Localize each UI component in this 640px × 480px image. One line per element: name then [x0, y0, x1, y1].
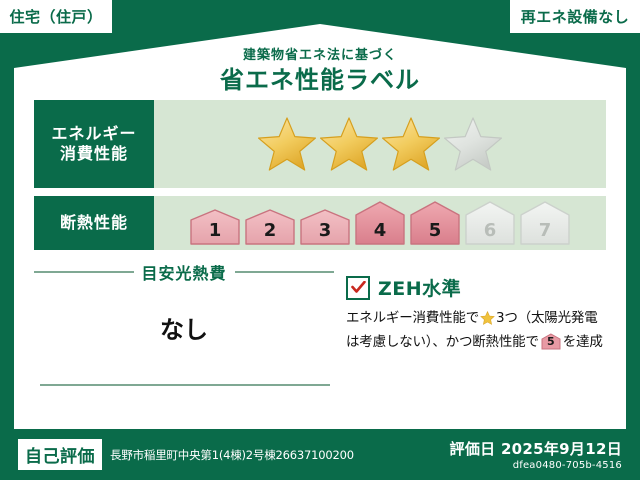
insulation-level-5: 5	[409, 201, 461, 245]
insulation-scale-area: 1234567	[154, 196, 606, 250]
building-type-tag: 住宅（住戸）	[0, 0, 112, 33]
energy-label-line1: エネルギー	[51, 124, 136, 144]
renewable-energy-tag-label: 再エネ設備なし	[521, 6, 630, 27]
insulation-label: 断熱性能	[60, 213, 128, 233]
lower-section: 目安光熱費 なし ZEH水準 エネルギー消費性能で3つ（太陽光発電は考慮しな	[34, 258, 606, 420]
renewable-energy-tag: 再エネ設備なし	[510, 0, 640, 33]
star-icon-filled	[382, 116, 440, 172]
insulation-level-2: 2	[244, 209, 296, 245]
zeh-desc-part4: を達成	[563, 334, 603, 350]
zeh-desc-part2: 3つ（太陽光発電	[496, 310, 598, 326]
star-icon-filled	[258, 116, 316, 172]
insulation-performance-row: 断熱性能 1234567	[34, 196, 606, 250]
insulation-level-number: 3	[299, 220, 351, 241]
star-icon-inline	[480, 311, 495, 332]
insulation-level-6: 6	[464, 201, 516, 245]
zeh-desc-part1: エネルギー消費性能で	[346, 310, 479, 326]
insulation-level-number: 6	[464, 220, 516, 241]
utility-cost-heading-label: 目安光熱費	[142, 260, 227, 284]
zeh-heading: ZEH水準	[346, 274, 608, 301]
self-evaluation-badge: 自己評価	[18, 439, 102, 470]
star-icon-filled	[320, 116, 378, 172]
insulation-level-number: 4	[354, 220, 406, 241]
utility-cost-heading: 目安光熱費	[34, 260, 334, 284]
energy-stars-area	[154, 100, 606, 188]
zeh-checkbox[interactable]	[346, 276, 370, 300]
energy-performance-row: エネルギー 消費性能	[34, 100, 606, 188]
check-icon	[351, 281, 366, 294]
insulation-level-number: 2	[244, 220, 296, 241]
zeh-block: ZEH水準 エネルギー消費性能で3つ（太陽光発電は考慮しない）、かつ断熱性能で5…	[346, 274, 608, 353]
star-icon-empty	[444, 116, 502, 172]
insulation-level-number: 5	[409, 220, 461, 241]
energy-label-line2: 消費性能	[60, 144, 128, 164]
insulation-level-3: 3	[299, 209, 351, 245]
evaluation-meta: 評価日 2025年9月12日 dfea0480-705b-4516	[450, 438, 622, 471]
building-type-tag-label: 住宅（住戸）	[9, 6, 102, 27]
heading-rule-right	[235, 271, 335, 273]
heading-rule-left	[34, 271, 134, 273]
zeh-title: ZEH水準	[378, 274, 461, 301]
insulation-badge-inline: 5	[541, 333, 561, 350]
roof-shape: 建築物省エネ法に基づく 省エネ性能ラベル	[14, 24, 626, 98]
utility-cost-bottom-rule	[40, 384, 330, 386]
star-rating	[258, 116, 502, 172]
property-address: 長野市稲里町中央第1(4棟)2号棟26637100200	[110, 447, 354, 463]
insulation-badge-number: 5	[541, 333, 561, 350]
insulation-level-number: 1	[189, 220, 241, 241]
page-title: 省エネ性能ラベル	[14, 60, 626, 95]
utility-cost-value: なし	[34, 310, 334, 345]
insulation-level-number: 7	[519, 220, 571, 241]
insulation-level-4: 4	[354, 201, 406, 245]
energy-performance-label: 住宅（住戸） 再エネ設備なし 建築物省エネ法に基づく 省エネ性能ラベル エネルギ…	[0, 0, 640, 480]
insulation-level-7: 7	[519, 201, 571, 245]
utility-cost-block: 目安光熱費 なし	[34, 258, 334, 420]
evaluation-id: dfea0480-705b-4516	[450, 460, 622, 471]
insulation-level-1: 1	[189, 209, 241, 245]
zeh-desc-part3: は考慮しない）、かつ断熱性能で	[346, 334, 539, 350]
energy-performance-label-box: エネルギー 消費性能	[34, 100, 154, 188]
evaluation-date: 評価日 2025年9月12日	[450, 438, 622, 459]
label-footer: 自己評価 長野市稲里町中央第1(4棟)2号棟26637100200 評価日 20…	[0, 429, 640, 480]
label-body: エネルギー 消費性能 断熱性能 1234567 目安光熱費	[14, 92, 626, 429]
insulation-performance-label-box: 断熱性能	[34, 196, 154, 250]
zeh-description: エネルギー消費性能で3つ（太陽光発電は考慮しない）、かつ断熱性能で5を達成	[346, 308, 608, 353]
insulation-house-scale: 1234567	[189, 201, 571, 245]
